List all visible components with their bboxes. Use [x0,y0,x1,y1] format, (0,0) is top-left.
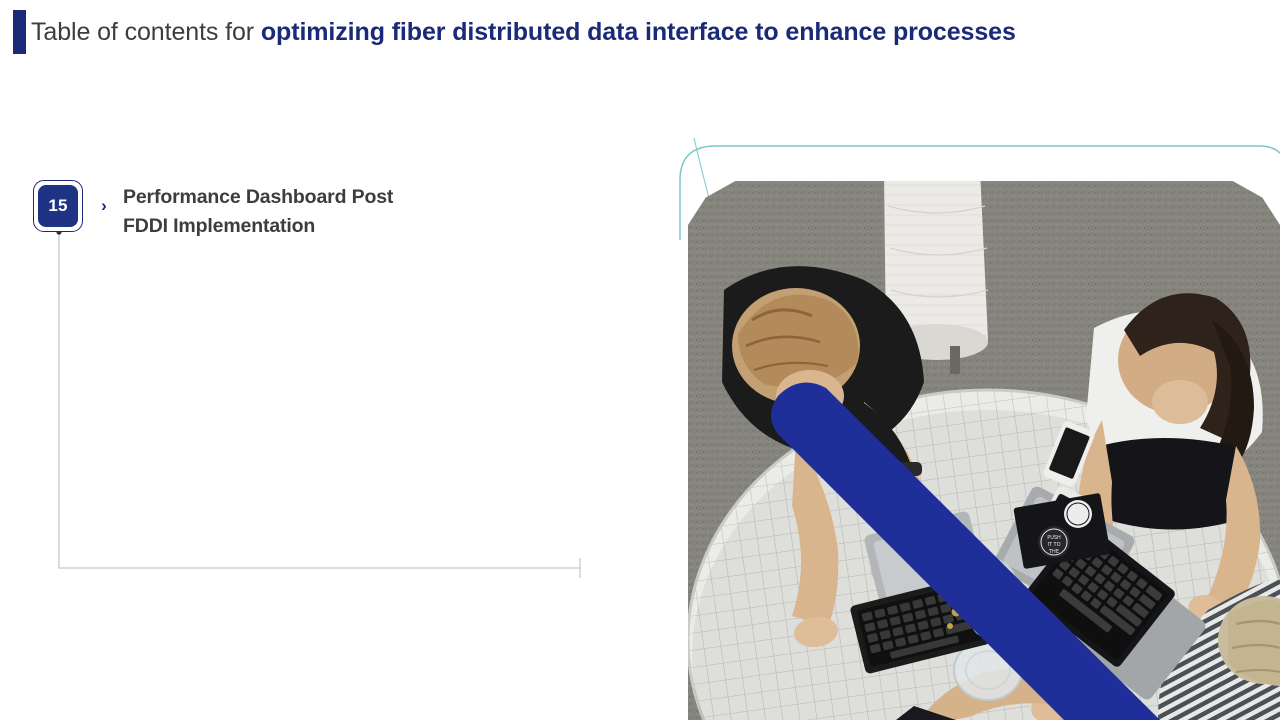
toc-number-badge: 15 [33,180,83,232]
toc-entry[interactable]: 15 › Performance Dashboard Post FDDI Imp… [33,180,473,241]
toc-entry-label: Performance Dashboard Post FDDI Implemen… [123,180,473,241]
photo-panel: PUSH IT TO THE [660,120,1280,720]
toc-entry-label-line2: FDDI Implementation [123,212,473,241]
table-of-contents-area: 15 › Performance Dashboard Post FDDI Imp… [0,0,680,720]
team-photo-image: PUSH IT TO THE [688,170,1280,720]
chevron-right-icon: › [90,180,118,232]
toc-number-badge-fill: 15 [38,185,78,227]
slide-canvas: Table of contents for optimizing fiber d… [0,0,1280,720]
toc-entry-label-line1: Performance Dashboard Post [123,183,473,212]
toc-number-text: 15 [48,196,67,216]
connector-line [0,0,680,620]
team-photo: PUSH IT TO THE [688,170,1280,720]
